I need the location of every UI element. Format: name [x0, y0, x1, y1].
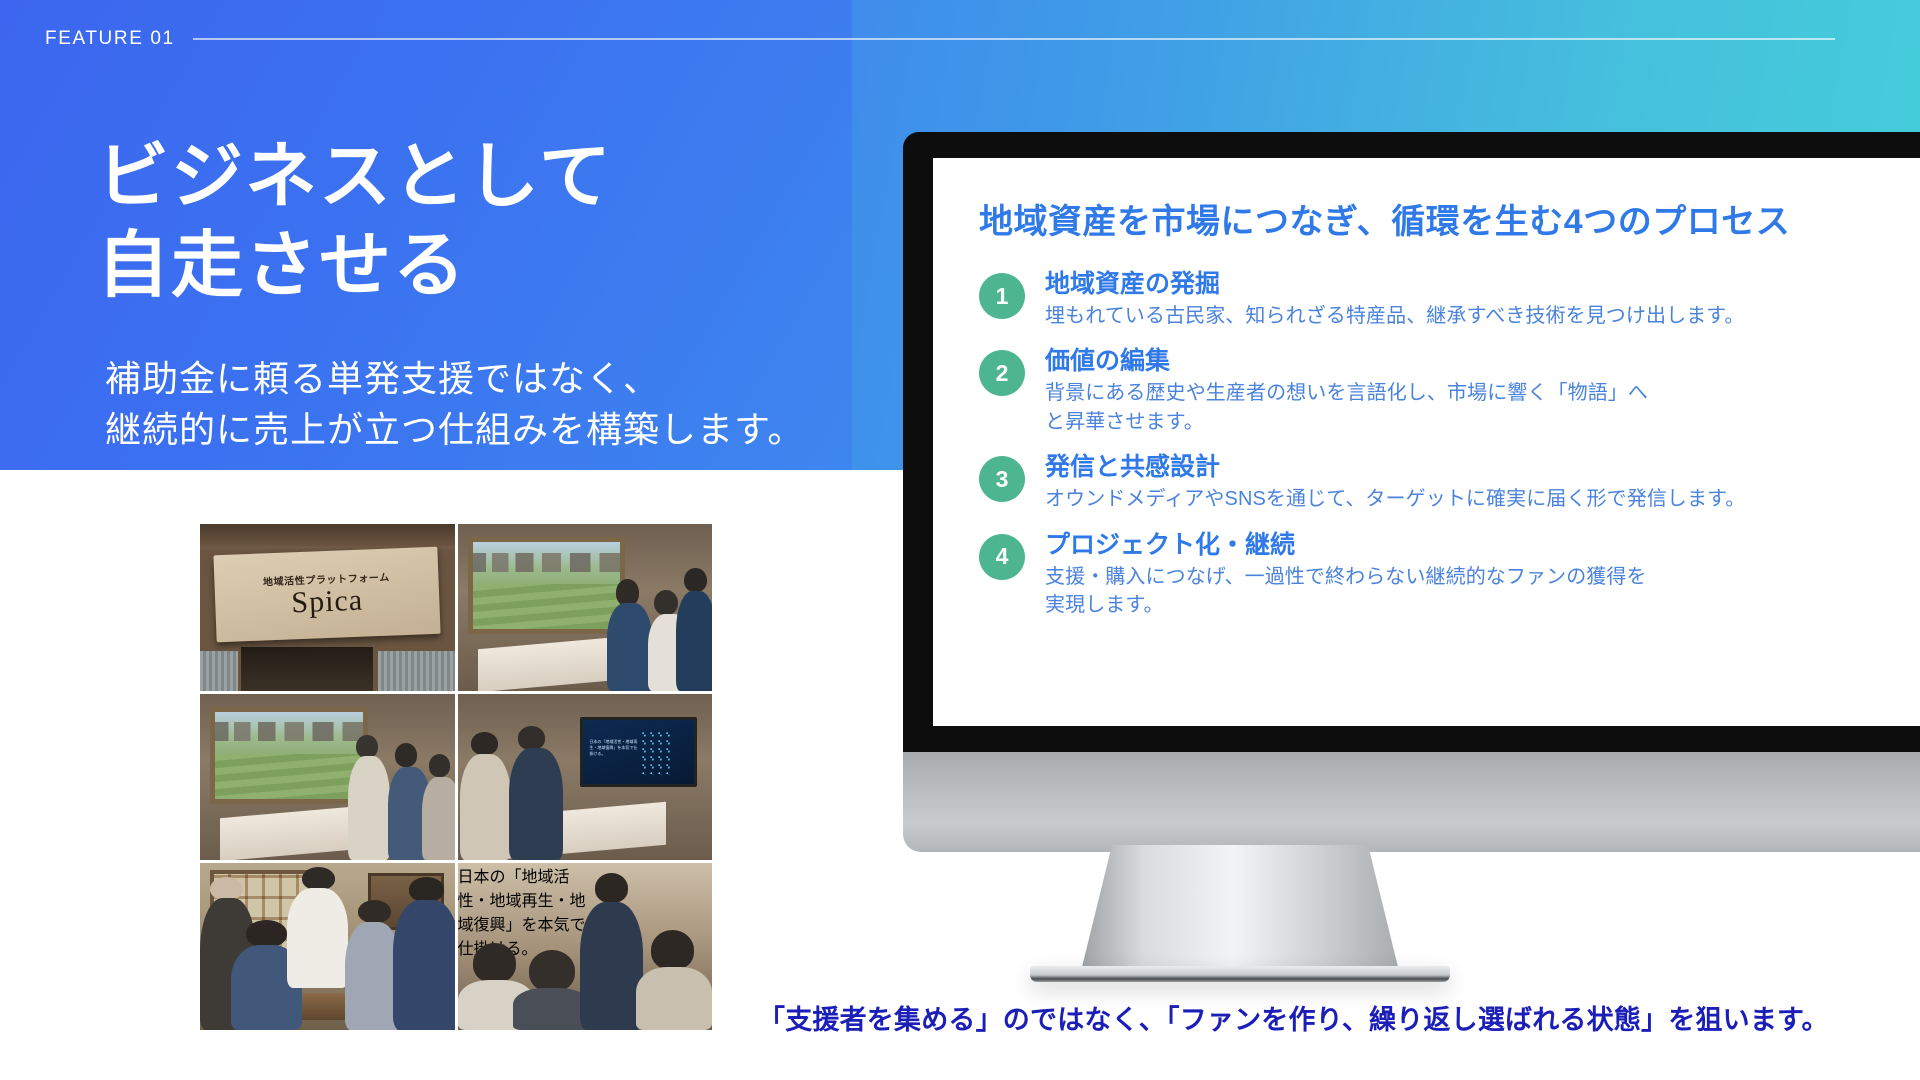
photo-workshop-table-2: [200, 694, 455, 861]
step-number-badge: 4: [979, 534, 1025, 580]
slide-root: FEATURE 01 ビジネスとして 自走させる 補助金に頼る単発支援ではなく、…: [0, 0, 1920, 1080]
person-head: [356, 735, 377, 758]
monitor-mockup: 地域資産を市場につなぎ、循環を生む4つのプロセス 1 地域資産の発掘 埋もれてい…: [903, 132, 1920, 852]
monitor-stand-base: [1030, 966, 1450, 982]
presentation-display: 日本の「地域活性・地域再生・地域復興」を本気で仕掛ける。: [458, 863, 595, 940]
slide-text: 日本の「地域活性・地域再生・地域復興」を本気で仕掛ける。: [589, 739, 638, 757]
roof-beam: [200, 524, 455, 546]
slide-text: 日本の「地域活性・地域再生・地域復興」を本気で仕掛ける。: [458, 869, 586, 958]
step-title: 発信と共感設計: [1045, 452, 1920, 482]
person-head: [684, 568, 706, 593]
person-head: [616, 579, 640, 606]
step-number-badge: 2: [979, 350, 1025, 396]
process-panel-title: 地域資産を市場につなぎ、循環を生む4つのプロセス: [979, 194, 1920, 243]
headline-line-2: 自走させる: [97, 222, 817, 311]
rice-terrace: [473, 584, 621, 629]
step-description: 背景にある歴史や生産者の想いを言語化し、市場に響く「物語」へ と昇華させます。: [1045, 379, 1920, 436]
monitor-stand-neck: [1080, 845, 1400, 975]
person-head: [529, 950, 575, 992]
feature-kicker-label: FEATURE 01: [45, 28, 175, 50]
doorway: [241, 647, 373, 690]
step-desc-line: と昇華させます。: [1045, 408, 1920, 436]
hero-subcopy: 補助金に頼る単発支援ではなく、 継続的に売上が立つ仕組みを構築します。: [105, 353, 835, 455]
person-head: [654, 590, 678, 616]
person-head: [302, 867, 335, 890]
step-desc-line: 支援・購入につなげ、一過性で終わらない継続的なファンの獲得を: [1045, 563, 1920, 591]
participants-group: [605, 554, 712, 691]
photo-signboard: 地域活性プラットフォーム Spica: [200, 524, 455, 691]
step-description: 支援・購入につなげ、一過性で終わらない継続的なファンの獲得を 実現します。: [1045, 563, 1920, 620]
person-body: [607, 603, 652, 690]
step-desc-line: 実現します。: [1045, 591, 1920, 619]
person-head: [471, 732, 498, 755]
photo-audience: 日本の「地域活性・地域再生・地域復興」を本気で仕掛ける。: [458, 863, 713, 1030]
person-body: [460, 754, 512, 861]
step-number-badge: 1: [979, 273, 1025, 319]
photo-craft-demo: [200, 863, 455, 1030]
headline-line-1: ビジネスとして: [97, 133, 817, 222]
step-desc-line: 背景にある歴史や生産者の想いを言語化し、市場に響く「物語」へ: [1045, 379, 1920, 407]
window-view: [210, 707, 368, 804]
process-step: 2 価値の編集 背景にある歴史や生産者の想いを言語化し、市場に響く「物語」へ と…: [979, 346, 1920, 436]
monitor-chin: [903, 752, 1920, 852]
bottom-caption: 「支援者を集める」のではなく、「ファンを作り、繰り返し選ばれる状態」を狙います。: [758, 998, 1878, 1037]
person-head: [246, 920, 287, 947]
feature-kicker-row: FEATURE 01: [45, 24, 1835, 54]
step-title: 地域資産の発掘: [1045, 269, 1920, 299]
person-body: [422, 777, 454, 860]
person-body: [509, 748, 563, 860]
person-head: [395, 743, 417, 768]
person-head: [210, 877, 243, 900]
person-body: [393, 900, 454, 1030]
village-silhouette: [215, 722, 363, 741]
rice-terrace: [215, 754, 363, 799]
step-number-badge: 3: [979, 456, 1025, 502]
signboard-brand: Spica: [291, 586, 364, 619]
wooden-signboard: 地域活性プラットフォーム Spica: [214, 546, 441, 641]
village-silhouette: [473, 553, 621, 572]
window-view: [468, 537, 626, 634]
person-head: [651, 930, 694, 970]
person-body: [513, 988, 589, 1030]
kicker-divider-line: [193, 38, 1835, 40]
subcopy-line-1: 補助金に頼る単発支援ではなく、: [105, 353, 835, 404]
person-head: [473, 943, 516, 983]
step-body: 地域資産の発掘 埋もれている古民家、知られざる特産品、継承すべき技術を見つけ出し…: [1045, 269, 1920, 330]
step-body: 価値の編集 背景にある歴史や生産者の想いを言語化し、市場に響く「物語」へ と昇華…: [1045, 346, 1920, 436]
person-body: [287, 888, 348, 988]
monitor-screen: 地域資産を市場につなぎ、循環を生む4つのプロセス 1 地域資産の発掘 埋もれてい…: [933, 158, 1920, 726]
presentation-display: 日本の「地域活性・地域再生・地域復興」を本気で仕掛ける。: [580, 717, 697, 787]
process-step: 1 地域資産の発掘 埋もれている古民家、知られざる特産品、継承すべき技術を見つけ…: [979, 269, 1920, 330]
person-body: [580, 902, 644, 1030]
step-desc-line: 埋もれている古民家、知られざる特産品、継承すべき技術を見つけ出します。: [1045, 302, 1920, 330]
step-body: 発信と共感設計 オウンドメディアやSNSを通じて、ターゲットに確実に届く形で発信…: [1045, 452, 1920, 513]
photo-collage: 地域活性プラットフォーム Spica: [200, 524, 712, 1030]
process-panel: 地域資産を市場につなぎ、循環を生む4つのプロセス 1 地域資産の発掘 埋もれてい…: [933, 158, 1920, 726]
participants-group: [348, 724, 455, 861]
wall-slats-right: [378, 651, 454, 691]
subcopy-line-2: 継続的に売上が立つ仕組みを構築します。: [105, 404, 835, 455]
step-body: プロジェクト化・継続 支援・購入につなげ、一過性で終わらない継続的なファンの獲得…: [1045, 530, 1920, 620]
step-description: オウンドメディアやSNSを通じて、ターゲットに確実に届く形で発信します。: [1045, 485, 1920, 513]
person-head: [595, 873, 628, 903]
person-head: [409, 877, 445, 902]
photo-workshop-table-1: [458, 524, 713, 691]
person-head: [358, 900, 391, 923]
person-body: [348, 756, 391, 860]
person-body: [636, 967, 712, 1030]
participants-group: [458, 724, 570, 861]
photo-presentation-screen: 日本の「地域活性・地域再生・地域復興」を本気で仕掛ける。: [458, 694, 713, 861]
person-head: [518, 726, 545, 749]
step-desc-line: オウンドメディアやSNSを通じて、ターゲットに確実に届く形で発信します。: [1045, 485, 1920, 513]
step-title: プロジェクト化・継続: [1045, 530, 1920, 560]
person-body: [676, 591, 712, 691]
step-description: 埋もれている古民家、知られざる特産品、継承すべき技術を見つけ出します。: [1045, 302, 1920, 330]
person-head: [429, 754, 450, 777]
page-title: ビジネスとして 自走させる: [97, 133, 817, 312]
wall-slats-left: [200, 651, 238, 691]
process-step: 3 発信と共感設計 オウンドメディアやSNSを通じて、ターゲットに確実に届く形で…: [979, 452, 1920, 513]
step-title: 価値の編集: [1045, 346, 1920, 376]
process-step: 4 プロジェクト化・継続 支援・購入につなげ、一過性で終わらない継続的なファンの…: [979, 530, 1920, 620]
